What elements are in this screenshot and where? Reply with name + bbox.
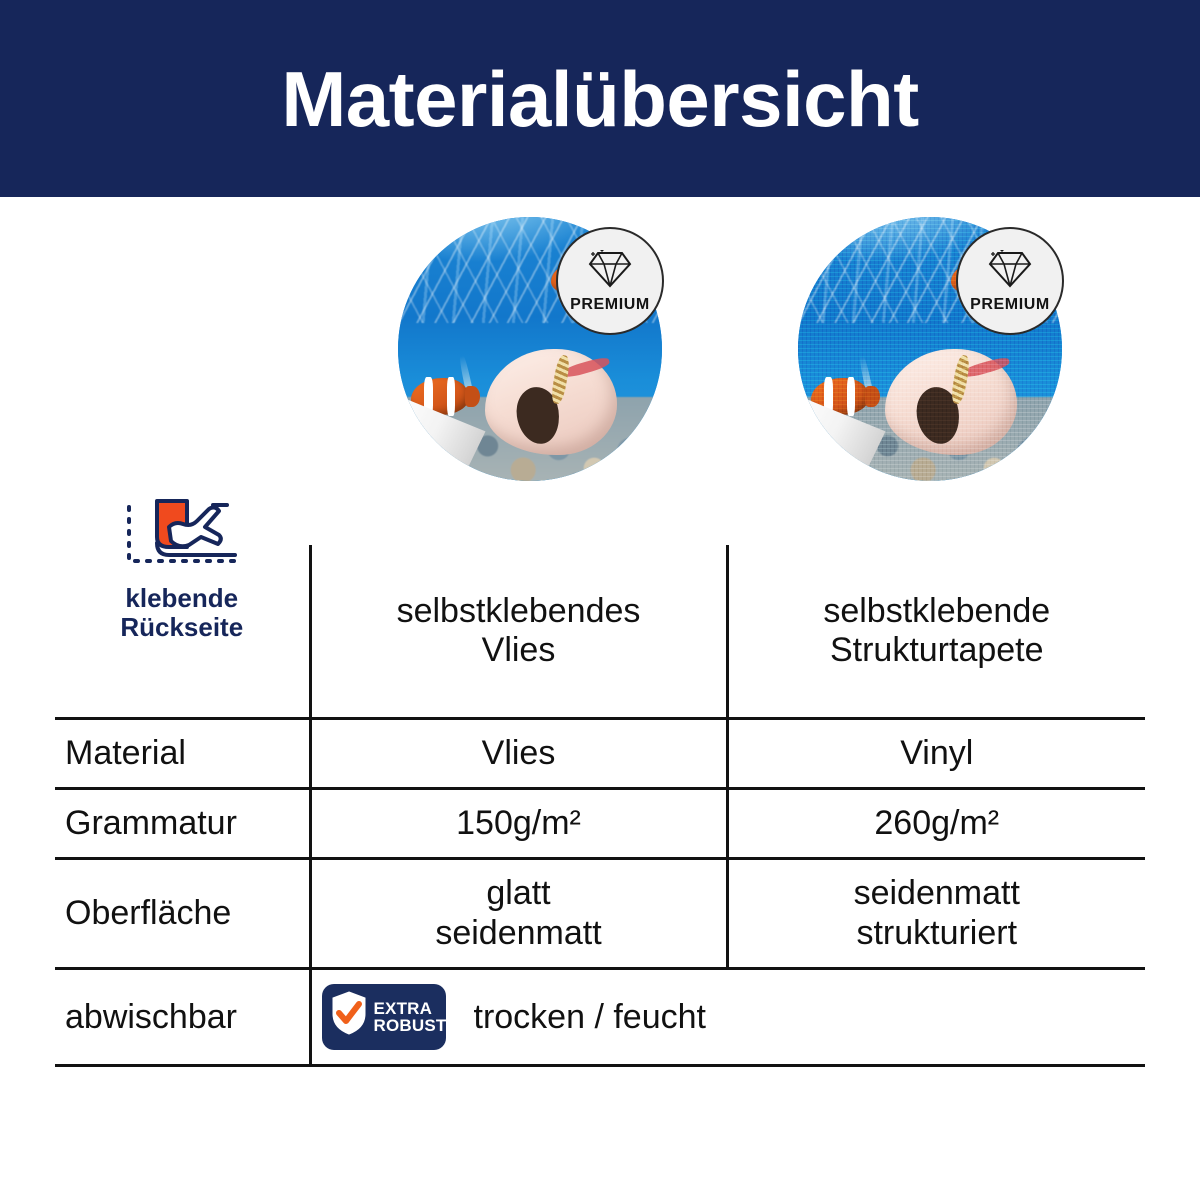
peeling-corner-hand-icon bbox=[123, 497, 241, 580]
cell-material-b: Vinyl bbox=[727, 719, 1145, 789]
premium-badge-label: PREMIUM bbox=[970, 297, 1050, 313]
triggerfish-icon bbox=[485, 349, 617, 455]
column-header-product-b: selbstklebende Strukturtapete bbox=[727, 545, 1145, 719]
table-row: Grammatur 150g/m² 260g/m² bbox=[55, 789, 1145, 859]
cell-material-a: Vlies bbox=[310, 719, 727, 789]
row-label-abwischbar: abwischbar bbox=[55, 969, 310, 1066]
material-comparison-table: klebende Rückseite selbstklebendes Vlies… bbox=[55, 545, 1145, 1067]
table-row: Material Vlies Vinyl bbox=[55, 719, 1145, 789]
adhesive-backing-label: klebende Rückseite bbox=[120, 584, 243, 641]
table-row-header: klebende Rückseite selbstklebendes Vlies… bbox=[55, 545, 1145, 719]
extra-robust-label: EXTRA ROBUST bbox=[374, 1000, 447, 1035]
row-label-oberflaeche: Oberfläche bbox=[55, 859, 310, 969]
cell-abwischbar-value: EXTRA ROBUST trocken / feucht bbox=[310, 969, 1145, 1066]
premium-badge: PREMIUM bbox=[556, 227, 664, 335]
header-banner: Materialübersicht bbox=[0, 0, 1200, 197]
premium-badge-label: PREMIUM bbox=[570, 297, 650, 313]
product-preview-vlies: PREMIUM bbox=[398, 217, 662, 481]
cell-grammatur-b: 260g/m² bbox=[727, 789, 1145, 859]
product-preview-strukturtapete: PREMIUM bbox=[798, 217, 1062, 481]
table-row: abwischbar EXTRA ROBUST bbox=[55, 969, 1145, 1066]
cell-oberflaeche-b: seidenmatt strukturiert bbox=[727, 859, 1145, 969]
extra-robust-badge: EXTRA ROBUST bbox=[322, 984, 446, 1050]
diamond-icon bbox=[587, 250, 633, 295]
adhesive-backing-cell: klebende Rückseite bbox=[55, 545, 310, 719]
product-preview-row: PREMIUM bbox=[0, 197, 1200, 527]
row-label-material: Material bbox=[55, 719, 310, 789]
page-title: Materialübersicht bbox=[281, 60, 918, 138]
row-label-grammatur: Grammatur bbox=[55, 789, 310, 859]
diamond-icon bbox=[987, 250, 1033, 295]
cell-grammatur-a: 150g/m² bbox=[310, 789, 727, 859]
table-row: Oberfläche glatt seidenmatt seidenmatt s… bbox=[55, 859, 1145, 969]
shield-check-icon bbox=[330, 990, 368, 1045]
cell-oberflaeche-a: glatt seidenmatt bbox=[310, 859, 727, 969]
premium-badge: PREMIUM bbox=[956, 227, 1064, 335]
abwischbar-text: trocken / feucht bbox=[474, 998, 706, 1037]
column-header-product-a: selbstklebendes Vlies bbox=[310, 545, 727, 719]
